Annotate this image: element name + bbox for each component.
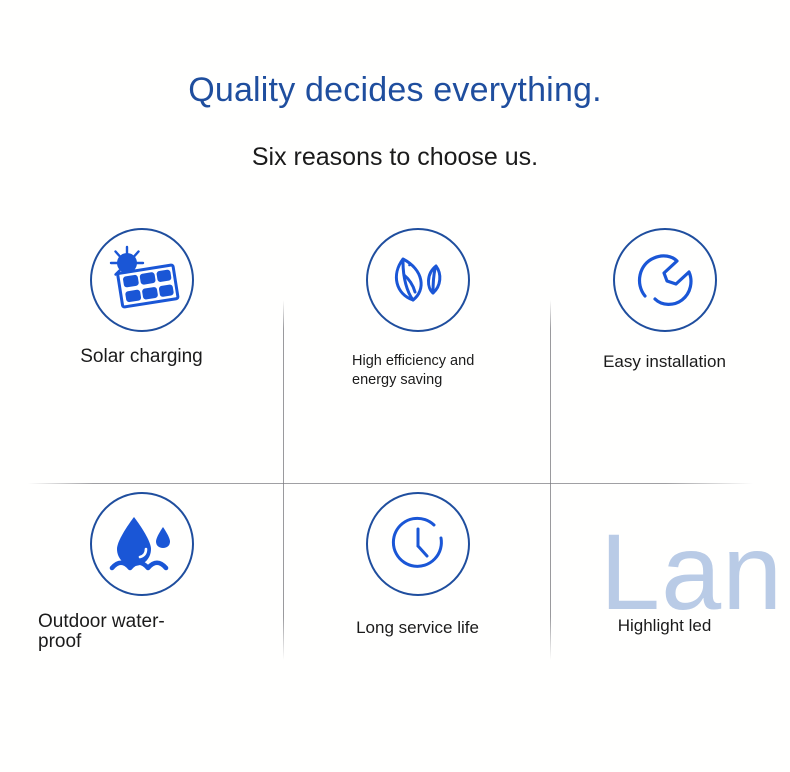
promo-banner: Quality decides everything. Six reasons … xyxy=(0,0,790,772)
feature-item-long-service-life: Long service life xyxy=(286,492,549,638)
feature-item-outdoor-waterproof: Outdoor water- proof xyxy=(10,492,273,652)
page-title: Quality decides everything. xyxy=(0,0,790,109)
page-subtitle: Six reasons to choose us. xyxy=(0,109,790,172)
feature-item-high-efficiency: High efficiency and energy saving xyxy=(286,228,549,390)
feature-label-outdoor-waterproof: Outdoor water- proof xyxy=(10,612,188,652)
feature-label-solar-charging: Solar charging xyxy=(10,346,273,368)
led-icon xyxy=(613,492,717,596)
water-drop-icon xyxy=(90,492,194,596)
feature-label-easy-installation: Easy installation xyxy=(533,352,790,372)
feature-label-line-1: High efficiency and xyxy=(352,352,549,371)
feature-item-highlight-led: Highlight led xyxy=(533,492,790,636)
feature-label-line-2: proof xyxy=(38,632,188,652)
clock-icon xyxy=(366,492,470,596)
feature-label-line-2: energy saving xyxy=(352,371,549,390)
feature-label-highlight-led: Highlight led xyxy=(533,616,790,636)
feature-item-solar-charging: Solar charging xyxy=(10,228,273,368)
leaves-icon xyxy=(366,228,470,332)
feature-item-easy-installation: Easy installation xyxy=(533,228,790,372)
feature-label-long-service-life: Long service life xyxy=(286,618,549,638)
feature-label-line-1: Outdoor water- xyxy=(38,612,188,632)
feature-grid: Solar charging xyxy=(0,228,790,728)
feature-label-high-efficiency: High efficiency and energy saving xyxy=(286,352,549,390)
solar-panel-sun-icon xyxy=(90,228,194,332)
header-block: Quality decides everything. Six reasons … xyxy=(0,0,790,172)
wrench-icon xyxy=(613,228,717,332)
